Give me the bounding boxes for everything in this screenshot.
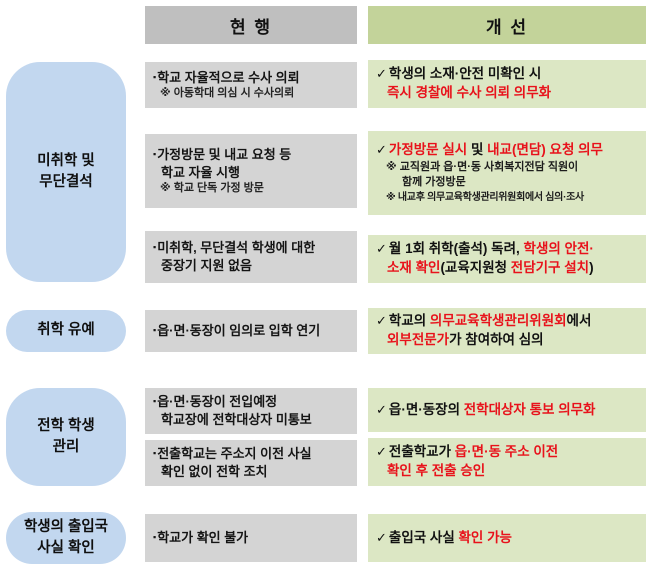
bullet-icon: ▪: [153, 532, 156, 542]
current-text: 학교 자율 시행: [161, 165, 240, 180]
improved-text-line: ✓월 1회 취학(출석) 독려, 학생의 안전·: [376, 240, 640, 259]
check-icon: ✓: [376, 530, 387, 545]
current-text: 학교장에 전학대상자 미통보: [161, 412, 312, 427]
category-label-truancy: 미취학 및 무단결석: [6, 62, 126, 282]
improved-text-highlight: 내교(면담) 요청 의무: [487, 142, 603, 157]
note-mark-icon: ※: [160, 182, 171, 194]
category-label-exit-entry-line1: 학생의 출입국: [24, 517, 108, 538]
current-text-line: ▪읍·면·동장이 전입예정: [153, 393, 351, 411]
improved-text: 가 참여하여 심의: [449, 332, 543, 347]
check-icon: ✓: [376, 402, 387, 417]
current-text: 학교 자율적으로 수사 의뢰: [157, 70, 299, 85]
current-text-line: ▪학교가 확인 불가: [153, 529, 351, 547]
category-label-exit-entry-line2: 사실 확인: [24, 538, 108, 559]
bullet-icon: ▪: [153, 448, 156, 458]
improved-cell-transfer-2: ✓전출학교가 읍·면·동 주소 이전 확인 후 전출 승인: [368, 438, 646, 486]
bullet-icon: ▪: [153, 242, 156, 252]
category-label-transfer-line2: 관리: [37, 437, 94, 458]
table-row-exit-entry: 학생의 출입국 사실 확인 ▪학교가 확인 불가 ✓출입국 사실 확인 가능: [0, 510, 650, 570]
note-mark-icon: ※: [386, 161, 397, 173]
improved-text-line: 외부전문가가 참여하여 심의: [376, 331, 640, 350]
current-note-text: 학교 단독 가정 방문: [174, 182, 264, 194]
improved-text: 전출학교가: [389, 444, 455, 459]
current-cell-truancy-2: ▪가정방문 및 내교 요청 등 학교 자율 시행 ※ 학교 단독 가정 방문: [145, 134, 357, 208]
current-cell-transfer-2: ▪전출학교는 주소지 이전 사실 확인 없이 전학 조치: [145, 440, 357, 486]
check-icon: ✓: [376, 313, 387, 328]
current-cell-deferral-1: ▪읍·면·동장이 임의로 입학 연기: [145, 310, 357, 352]
current-note-line: ※ 아동학대 의심 시 수사의뢰: [153, 86, 351, 101]
category-label-truancy-line1: 미취학 및: [37, 151, 94, 172]
improved-text-line: ✓출입국 사실 확인 가능: [376, 529, 640, 548]
improved-text-line: ✓가정방문 실시 및 내교(면담) 요청 의무: [376, 141, 640, 160]
policy-comparison-table: 현 행 개 선 미취학 및 무단결석 ▪학교 자율적으로 수사 의뢰 ※ 아동학…: [0, 0, 650, 576]
improved-cell-truancy-1: ✓학생의 소재·안전 미확인 시 즉시 경찰에 수사 의뢰 의무화: [368, 60, 646, 108]
category-label-exit-entry: 학생의 출입국 사실 확인: [6, 512, 126, 564]
check-icon: ✓: [376, 241, 387, 256]
current-text-line: ▪미취학, 무단결석 학생에 대한: [153, 239, 351, 257]
current-text: 읍·면·동장이 전입예정: [157, 394, 277, 409]
current-text: 확인 없이 전학 조치: [161, 464, 268, 479]
improved-text: 학교의: [389, 313, 430, 328]
improved-text: 에서: [567, 313, 592, 328]
current-cell-truancy-1: ▪학교 자율적으로 수사 의뢰 ※ 아동학대 의심 시 수사의뢰: [145, 62, 357, 108]
table-row-deferral: 취학 유예 ▪읍·면·동장이 임의로 입학 연기 ✓학교의 의무교육학생관리위원…: [0, 306, 650, 362]
improved-text: 출입국 사실: [389, 530, 459, 545]
improved-cell-truancy-2: ✓가정방문 실시 및 내교(면담) 요청 의무 ※ 교직원과 읍·면·동 사회복…: [368, 131, 646, 215]
category-label-truancy-line2: 무단결석: [37, 172, 94, 193]
check-icon: ✓: [376, 142, 387, 157]
improved-text-highlight: 의무교육학생관리위원회: [430, 313, 567, 328]
current-cell-transfer-1: ▪읍·면·동장이 전입예정 학교장에 전학대상자 미통보: [145, 388, 357, 434]
bullet-icon: ▪: [153, 149, 156, 159]
improved-text: (교육지원청: [440, 260, 510, 275]
current-cell-truancy-3: ▪미취학, 무단결석 학생에 대한 중장기 지원 없음: [145, 231, 357, 283]
current-text: 읍·면·동장이 임의로 입학 연기: [157, 323, 320, 338]
bullet-icon: ▪: [153, 396, 156, 406]
current-text: 미취학, 무단결석 학생에 대한: [157, 240, 315, 255]
improved-text: 학생의 소재·안전 미확인 시: [389, 66, 541, 81]
improved-text-line: ✓전출학교가 읍·면·동 주소 이전: [376, 443, 640, 462]
bullet-icon: ▪: [153, 72, 156, 82]
current-text-line: 학교장에 전학대상자 미통보: [153, 411, 351, 429]
improved-note-line: ※ 내교후 의무교육학생관리위원회에서 심의·조사: [376, 191, 640, 205]
improved-cell-deferral-1: ✓학교의 의무교육학생관리위원회에서 외부전문가가 참여하여 심의: [368, 308, 646, 354]
improved-text-line: ✓학교의 의무교육학생관리위원회에서: [376, 312, 640, 331]
current-text: 학교가 확인 불가: [157, 530, 248, 545]
category-label-transfer-line1: 전학 학생: [37, 416, 94, 437]
current-text: 전출학교는 주소지 이전 사실: [157, 446, 311, 461]
improved-text: 및: [467, 142, 487, 157]
improved-text: ): [589, 260, 594, 275]
category-label-deferral: 취학 유예: [6, 310, 126, 352]
category-label-transfer: 전학 학생 관리: [6, 388, 126, 486]
current-text-line: 중장기 지원 없음: [153, 257, 351, 275]
improved-text-highlight: 즉시 경찰에 수사 의뢰 의무화: [387, 85, 551, 100]
improved-text: 읍·면·동장의: [389, 402, 464, 417]
current-note-line: ※ 학교 단독 가정 방문: [153, 181, 351, 196]
improved-text-highlight: 소재 확인: [387, 260, 440, 275]
current-text: 가정방문 및 내교 요청 등: [157, 147, 291, 162]
improved-note-text: 함께 가정방문: [402, 176, 466, 188]
improved-text-highlight: 학생의 안전·: [524, 241, 594, 256]
check-icon: ✓: [376, 66, 387, 81]
current-note-text: 아동학대 의심 시 수사의뢰: [174, 87, 295, 99]
improved-cell-exit-entry-1: ✓출입국 사실 확인 가능: [368, 514, 646, 562]
current-text-line: 확인 없이 전학 조치: [153, 463, 351, 481]
improved-cell-transfer-1: ✓읍·면·동장의 전학대상자 통보 의무화: [368, 388, 646, 432]
category-label-deferral-text: 취학 유예: [37, 320, 94, 341]
current-text: 중장기 지원 없음: [161, 258, 252, 273]
current-cell-exit-entry-1: ▪학교가 확인 불가: [145, 514, 357, 562]
improved-text-highlight: 확인 가능: [459, 530, 512, 545]
table-row-transfer: 전학 학생 관리 ▪읍·면·동장이 전입예정 학교장에 전학대상자 미통보 ▪전…: [0, 386, 650, 496]
improved-text-highlight: 읍·면·동 주소 이전: [455, 444, 558, 459]
bullet-icon: ▪: [153, 325, 156, 335]
improved-note-line: 함께 가정방문: [376, 175, 640, 190]
improved-text: 월 1회 취학(출석) 독려,: [389, 241, 524, 256]
improved-text-highlight: 외부전문가: [387, 332, 449, 347]
note-mark-icon: ※: [160, 87, 171, 99]
current-text-line: 학교 자율 시행: [153, 164, 351, 182]
improved-note-text: 내교후 의무교육학생관리위원회에서 심의·조사: [398, 192, 584, 203]
improved-text-highlight: 확인 후 전출 승인: [387, 463, 485, 478]
current-text-line: ▪가정방문 및 내교 요청 등: [153, 146, 351, 164]
improved-text-line: 소재 확인(교육지원청 전담기구 설치): [376, 259, 640, 278]
improved-note-line: ※ 교직원과 읍·면·동 사회복지전담 직원이: [376, 160, 640, 175]
current-text-line: ▪읍·면·동장이 임의로 입학 연기: [153, 322, 351, 340]
table-row-truancy: 미취학 및 무단결석 ▪학교 자율적으로 수사 의뢰 ※ 아동학대 의심 시 수…: [0, 0, 650, 300]
check-icon: ✓: [376, 444, 387, 459]
improved-note-text: 교직원과 읍·면·동 사회복지전담 직원이: [400, 161, 578, 173]
current-text-line: ▪전출학교는 주소지 이전 사실: [153, 445, 351, 463]
improved-text-highlight: 전담기구 설치: [511, 260, 589, 275]
improved-cell-truancy-3: ✓월 1회 취학(출석) 독려, 학생의 안전· 소재 확인(교육지원청 전담기…: [368, 235, 646, 283]
improved-text-line: 즉시 경찰에 수사 의뢰 의무화: [376, 84, 640, 103]
improved-text-highlight: 전학대상자 통보 의무화: [464, 402, 596, 417]
improved-text-line: ✓읍·면·동장의 전학대상자 통보 의무화: [376, 401, 640, 420]
improved-text-line: 확인 후 전출 승인: [376, 462, 640, 481]
improved-text-line: ✓학생의 소재·안전 미확인 시: [376, 65, 640, 84]
current-text-line: ▪학교 자율적으로 수사 의뢰: [153, 69, 351, 87]
note-mark-icon: ※: [386, 192, 395, 203]
improved-text-highlight: 가정방문 실시: [389, 142, 467, 157]
